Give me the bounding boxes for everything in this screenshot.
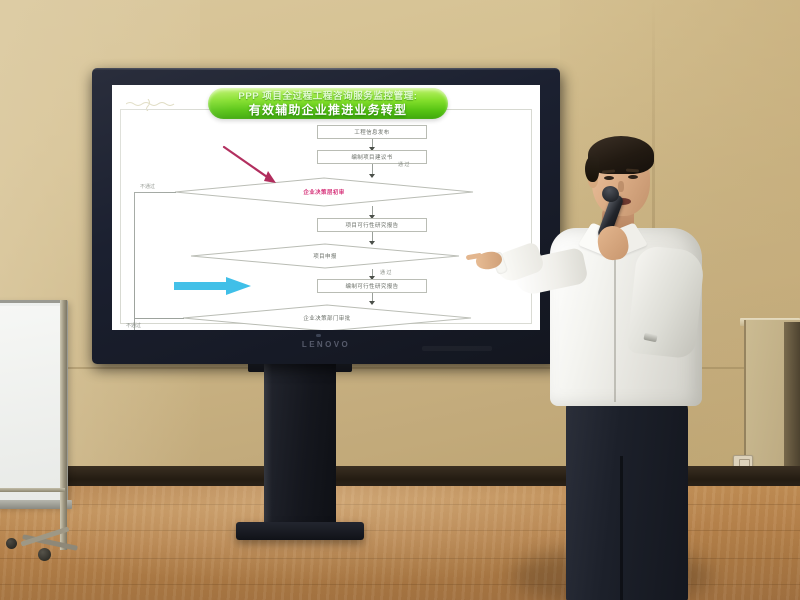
- presenter-hair-side: [585, 156, 599, 182]
- slide-title-line-1: PPP 项目全过程工程咨询服务监控管理:: [238, 91, 417, 103]
- presentation-slide: PPP 项目全过程工程咨询服务监控管理: 有效辅助企业推进业务转型 工程信息发布…: [112, 85, 540, 330]
- flow-branch-b3: 通 过: [380, 269, 391, 276]
- whiteboard-caster-wheel-2: [6, 538, 17, 549]
- display-stand-column: [264, 364, 336, 529]
- highlight-arrow-crimson-icon: [220, 143, 290, 189]
- display-bezel-highlight: [92, 68, 560, 70]
- highlight-arrow-cyan-icon: [174, 277, 252, 295]
- whiteboard-caster-wheel: [38, 548, 51, 561]
- flow-node-d1: 企业决策层初审: [174, 177, 474, 207]
- display-stand-base: [236, 522, 364, 540]
- flow-node-d2: 项目申报: [190, 243, 460, 269]
- flow-node-n1: 工程信息发布: [317, 125, 427, 139]
- flow-branch-b1: 不通过: [140, 183, 155, 190]
- display-brand-logo: LENOVO: [92, 340, 560, 349]
- flow-branch-b2: 通 过: [398, 161, 409, 168]
- room-scene: LENOVO PPP 项目全过程工程咨询服务监控管理: 有效辅助企业推进业务转型: [0, 0, 800, 600]
- side-table-shadow: [784, 322, 800, 488]
- flow-node-d3-label: 企业决策部门审批: [182, 314, 472, 322]
- display-sensor-icon: [316, 334, 321, 337]
- presenter-shirt-placket: [614, 256, 616, 402]
- presenter-eye-right: [628, 175, 638, 179]
- flow-node-n4: 编制可行性研究报告: [317, 279, 427, 293]
- flow-branch-b4: 不通过: [126, 322, 141, 329]
- whiteboard-post: [60, 300, 67, 550]
- presenter-leg-seam: [620, 456, 623, 600]
- presenter-right-arm: [627, 245, 706, 360]
- flow-node-d1-label: 企业决策层初审: [174, 188, 474, 196]
- whiteboard-crossbar: [0, 488, 65, 492]
- flow-node-d2-label: 项目申报: [190, 252, 460, 260]
- presenter-nose: [618, 181, 624, 192]
- presenter-eye-left: [604, 176, 614, 180]
- whiteboard-surface: [0, 300, 68, 506]
- display-stand-highlight: [264, 364, 272, 529]
- flow-node-n3: 项目可行性研究报告: [317, 218, 427, 232]
- interactive-display[interactable]: LENOVO PPP 项目全过程工程咨询服务监控管理: 有效辅助企业推进业务转型: [92, 68, 560, 364]
- presenter: [492, 126, 742, 600]
- flow-node-d3: 企业决策部门审批: [182, 304, 472, 330]
- presenter-trousers: [566, 394, 688, 600]
- display-screen[interactable]: PPP 项目全过程工程咨询服务监控管理: 有效辅助企业推进业务转型 工程信息发布…: [112, 85, 540, 330]
- slide-title-banner: PPP 项目全过程工程咨询服务监控管理: 有效辅助企业推进业务转型: [208, 88, 448, 119]
- flow-node-n2: 编制项目建议书: [317, 150, 427, 164]
- slide-title-line-2: 有效辅助企业推进业务转型: [249, 103, 407, 117]
